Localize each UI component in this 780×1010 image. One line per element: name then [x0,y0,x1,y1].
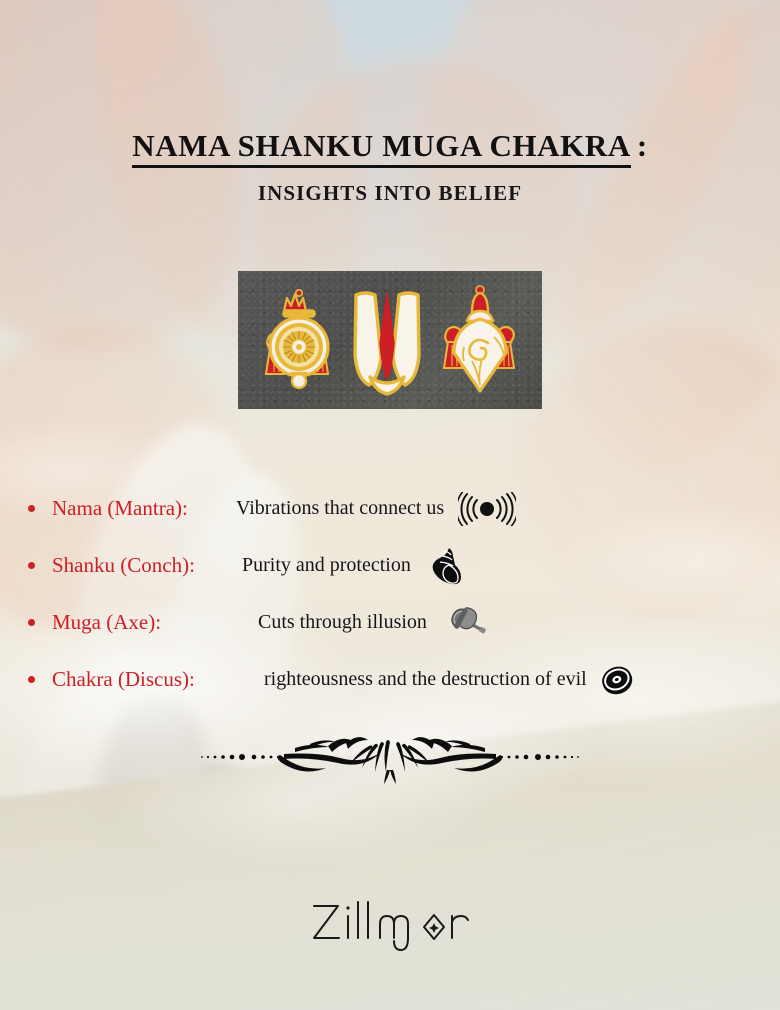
list-item-label: Muga (Axe): [52,610,258,635]
zilmor-logo [280,880,500,970]
list-item-label: Shanku (Conch): [52,553,242,578]
bullet-dot-icon [28,619,35,626]
shanku-conch-emblem [434,281,526,399]
conch-shell-icon [429,547,463,585]
bullet-dot-icon [28,676,35,683]
list-item: Shanku (Conch): Purity and protection [28,537,780,594]
page-title: NAMA SHANKU MUGA CHAKRA: [0,128,780,164]
bullet-dot-icon [28,505,35,512]
chakra-discus-emblem [254,281,340,399]
axe-icon [445,604,489,642]
title-block: NAMA SHANKU MUGA CHAKRA: INSIGHTS INTO B… [0,128,780,206]
bullet-dot-icon [28,562,35,569]
discus-chakra-icon [599,662,635,698]
nama-tilaka-emblem [344,281,430,399]
list-item-description: Vibrations that connect us [236,497,444,520]
list-item: Muga (Axe): Cuts through illusion [28,594,780,651]
list-item: Chakra (Discus): righteousness and the d… [28,651,780,708]
ornamental-flourish-divider [200,726,580,788]
list-item-description: Cuts through illusion [258,611,427,634]
belief-points-list: Nama (Mantra): Vibrations that connect u… [28,480,780,708]
list-item-label: Chakra (Discus): [52,667,264,692]
page-subtitle: INSIGHTS INTO BELIEF [0,181,780,206]
poster-canvas: NAMA SHANKU MUGA CHAKRA: INSIGHTS INTO B… [0,0,780,1010]
page-title-colon: : [637,128,648,163]
list-item: Nama (Mantra): Vibrations that connect u… [28,480,780,537]
page-title-text: NAMA SHANKU MUGA CHAKRA [132,128,631,168]
vaishnava-emblem-panel [238,271,542,409]
list-item-label: Nama (Mantra): [52,496,236,521]
list-item-description: righteousness and the destruction of evi… [264,668,587,691]
sound-vibration-icon [458,492,516,526]
list-item-description: Purity and protection [242,554,411,577]
